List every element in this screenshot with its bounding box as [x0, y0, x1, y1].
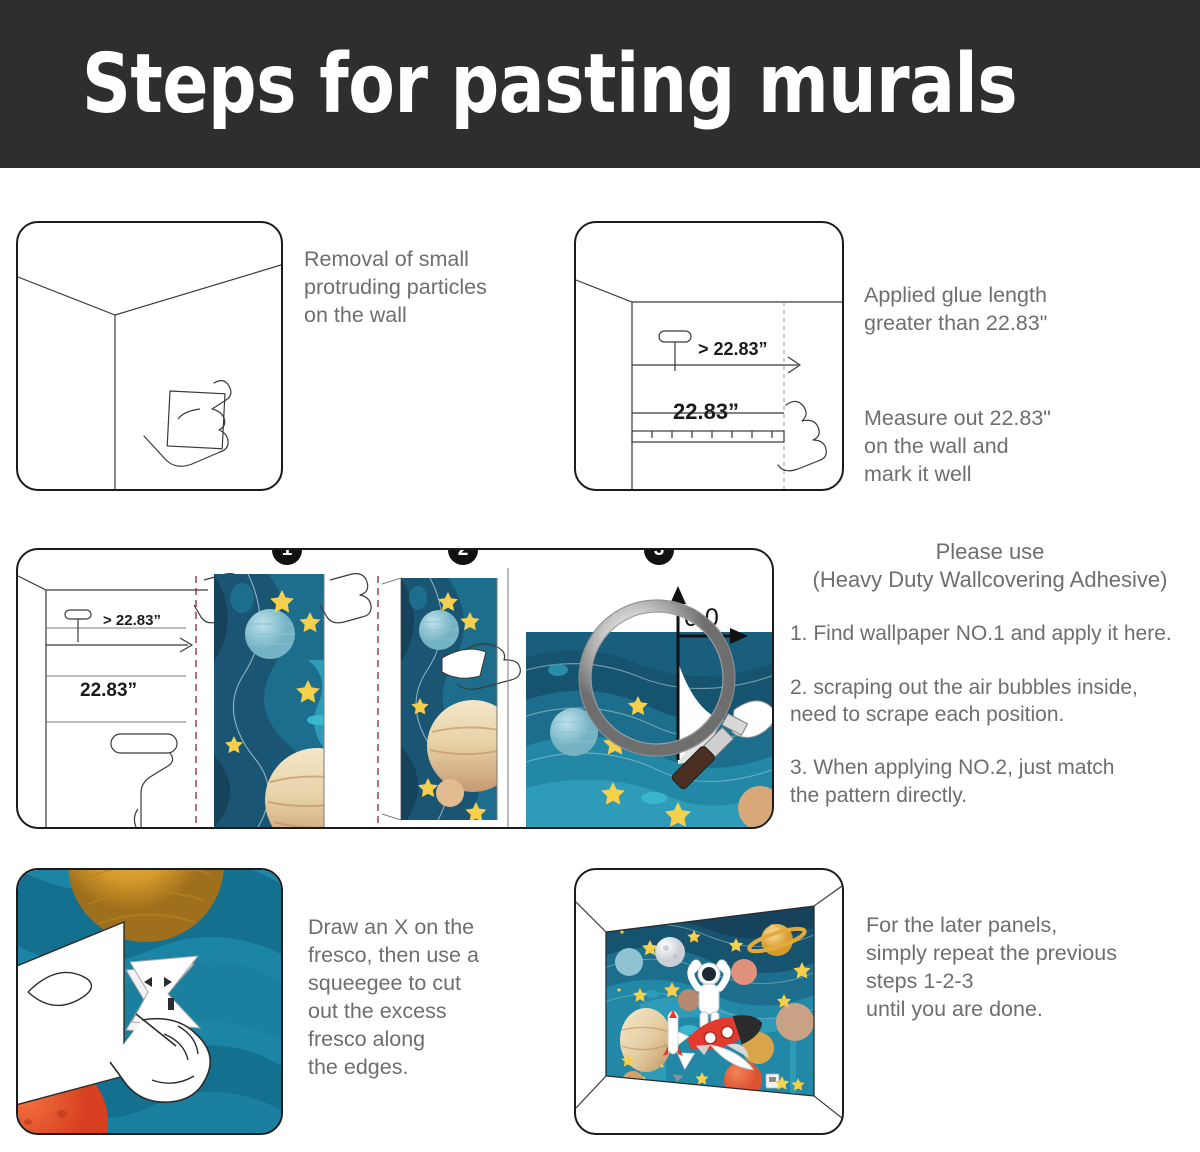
finished-mural-room-icon — [576, 870, 842, 1133]
label-glue-length-steps: > 22.83” — [103, 612, 161, 629]
paint-roller-icon — [111, 734, 177, 827]
instructions-heading-line2: (Heavy Duty Wallcovering Adhesive) — [790, 566, 1190, 594]
header-bar: Steps for pasting murals — [0, 0, 1200, 168]
glue-tool-icon — [65, 610, 91, 642]
ruler-icon — [632, 431, 784, 442]
instructions-heading-line1: Please use — [790, 538, 1190, 566]
caption-measure-mark: Measure out 22.83" on the wall and mark … — [864, 405, 1144, 489]
label-glue-length: > 22.83” — [698, 339, 768, 359]
caption-x-cut: Draw an X on the fresco, then use a sque… — [308, 914, 558, 1082]
wall-corner-scraper-icon — [18, 223, 281, 489]
squeegee-x-cut-icon — [18, 870, 281, 1133]
infographic-page: Steps for pasting murals Removal of smal… — [0, 0, 1200, 1152]
instructions-block: Please use (Heavy Duty Wallcovering Adhe… — [790, 538, 1190, 809]
panel-x-cut — [16, 868, 283, 1135]
mural-wall — [604, 900, 816, 1104]
instruction-item-2: 2. scraping out the air bubbles inside, … — [790, 674, 1190, 729]
panel-clean-wall — [16, 221, 283, 491]
instruction-item-1: 1. Find wallpaper NO.1 and apply it here… — [790, 620, 1190, 647]
panel-finished-room — [574, 868, 844, 1135]
label-measure-length: 22.83” — [673, 399, 739, 424]
three-step-illustration: > 22.83” 22.83” — [18, 550, 772, 827]
mural-strip-2 — [386, 578, 519, 822]
page-title: Steps for pasting murals — [82, 37, 1017, 132]
label-measure-steps: 22.83” — [80, 680, 137, 701]
wall-measure-icon: > 22.83” 22.83” — [576, 223, 842, 489]
panel-measure-wall: > 22.83” 22.83” — [574, 221, 844, 491]
caption-glue-length: Applied glue length greater than 22.83" — [864, 282, 1124, 338]
panel-three-steps: > 22.83” 22.83” — [16, 548, 774, 829]
mural-strip-1 — [195, 574, 369, 827]
caption-clean-wall: Removal of small protruding particles on… — [304, 246, 554, 330]
instruction-item-3: 3. When applying NO.2, just match the pa… — [790, 754, 1190, 809]
caption-finished: For the later panels, simply repeat the … — [866, 912, 1196, 1024]
